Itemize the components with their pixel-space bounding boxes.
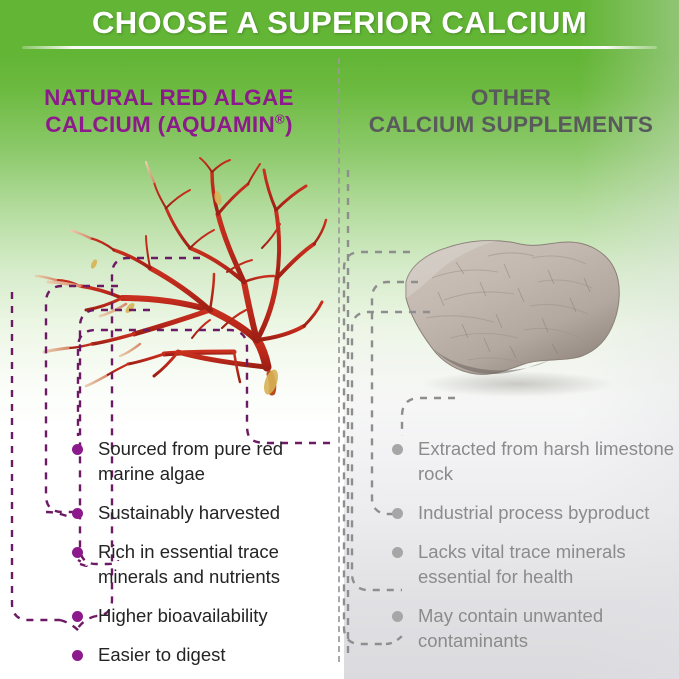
- bullet-dot-icon: [72, 650, 83, 661]
- infographic-root: CHOOSE A SUPERIOR CALCIUM NATURAL RED AL…: [0, 0, 679, 679]
- list-item-label: Lacks vital trace minerals essential for…: [392, 539, 679, 589]
- list-item: Sustainably harvested: [72, 500, 340, 525]
- bullet-dot-icon: [72, 611, 83, 622]
- list-item: Extracted from harsh limestone rock: [392, 436, 679, 486]
- limestone-rock-image: [392, 218, 632, 398]
- title-underline: [22, 46, 657, 49]
- list-item: Rich in essential trace minerals and nut…: [72, 539, 340, 589]
- list-item: Industrial process byproduct: [392, 500, 679, 525]
- list-item-label: Sustainably harvested: [72, 500, 340, 525]
- bullet-dot-icon: [392, 547, 403, 558]
- left-column-heading: NATURAL RED ALGAE CALCIUM (AQUAMIN®): [4, 84, 334, 138]
- list-item-label: Rich in essential trace minerals and nut…: [72, 539, 340, 589]
- right-drawbacks-list: Extracted from harsh limestone rock Indu…: [392, 436, 679, 653]
- bullet-dot-icon: [392, 444, 403, 455]
- header-banner: CHOOSE A SUPERIOR CALCIUM: [0, 0, 679, 56]
- list-item-label: Industrial process byproduct: [392, 500, 679, 525]
- left-heading-line2: CALCIUM (AQUAMIN®): [4, 111, 334, 138]
- list-item-label: May contain unwanted contaminants: [392, 603, 679, 653]
- registered-trademark-icon: ®: [275, 112, 285, 127]
- list-item: May contain unwanted contaminants: [392, 603, 679, 653]
- right-column-heading: OTHER CALCIUM SUPPLEMENTS: [345, 84, 677, 138]
- list-item-label: Easier to digest: [72, 642, 340, 667]
- bullet-dot-icon: [392, 611, 403, 622]
- list-item-label: Extracted from harsh limestone rock: [392, 436, 679, 486]
- left-heading-line1: NATURAL RED ALGAE: [4, 84, 334, 111]
- list-item: Easier to digest: [72, 642, 340, 667]
- red-algae-image: [22, 152, 332, 402]
- list-item-label: Higher bioavailability: [72, 603, 340, 628]
- list-item: Lacks vital trace minerals essential for…: [392, 539, 679, 589]
- left-heading-line2-pre: CALCIUM (AQUAMIN: [45, 112, 275, 137]
- bullet-dot-icon: [392, 508, 403, 519]
- list-item: Sourced from pure red marine algae: [72, 436, 340, 486]
- page-title: CHOOSE A SUPERIOR CALCIUM: [0, 4, 679, 42]
- left-heading-line2-post: ): [285, 112, 293, 137]
- right-heading-line1: OTHER: [345, 84, 677, 111]
- left-benefits-list: Sourced from pure red marine algae Susta…: [72, 436, 340, 667]
- right-heading-line2: CALCIUM SUPPLEMENTS: [345, 111, 677, 138]
- list-item: Higher bioavailability: [72, 603, 340, 628]
- bullet-dot-icon: [72, 444, 83, 455]
- bullet-dot-icon: [72, 508, 83, 519]
- bullet-dot-icon: [72, 547, 83, 558]
- list-item-label: Sourced from pure red marine algae: [72, 436, 340, 486]
